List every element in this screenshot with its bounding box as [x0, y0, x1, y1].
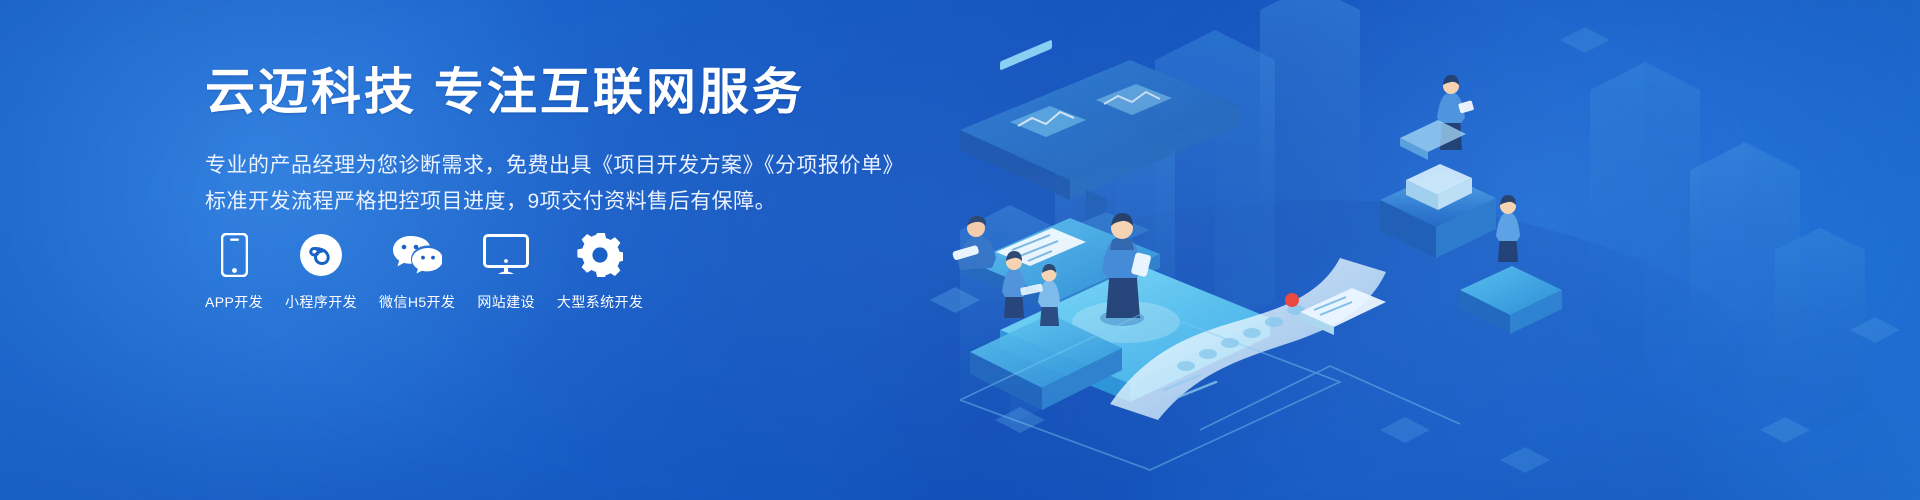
- service-label: APP开发: [205, 292, 263, 312]
- background-glow-right: [1040, 0, 1920, 500]
- subtitle-line-2: 标准开发流程严格把控项目进度，9项交付资料售后有保障。: [205, 184, 925, 220]
- monitor-icon: [483, 232, 529, 278]
- service-label: 小程序开发: [285, 292, 357, 312]
- service-label: 网站建设: [477, 292, 535, 312]
- isometric-illustration: [900, 0, 1920, 500]
- page-title: 云迈科技 专注互联网服务: [205, 62, 925, 122]
- hero-banner: 云迈科技 专注互联网服务 专业的产品经理为您诊断需求，免费出具《项目开发方案》《…: [0, 0, 1920, 500]
- service-label: 微信H5开发: [379, 292, 455, 312]
- service-item-large-system[interactable]: 大型系统开发: [557, 232, 643, 312]
- banner-content: 云迈科技 专注互联网服务 专业的产品经理为您诊断需求，免费出具《项目开发方案》《…: [205, 62, 925, 220]
- gear-icon: [577, 232, 623, 278]
- service-item-wechat-h5[interactable]: 微信H5开发: [379, 232, 455, 312]
- wechat-icon: [392, 232, 442, 278]
- background-glow-bottom: [768, 200, 1868, 500]
- service-item-app[interactable]: APP开发: [205, 232, 263, 312]
- service-label: 大型系统开发: [557, 292, 643, 312]
- banner-subtitle: 专业的产品经理为您诊断需求，免费出具《项目开发方案》《分项报价单》 标准开发流程…: [205, 148, 925, 220]
- subtitle-line-1: 专业的产品经理为您诊断需求，免费出具《项目开发方案》《分项报价单》: [205, 148, 925, 184]
- service-item-mini-program[interactable]: 小程序开发: [285, 232, 357, 312]
- mobile-phone-icon: [221, 232, 248, 278]
- service-item-website[interactable]: 网站建设: [477, 232, 535, 312]
- service-list: APP开发 小程序开发: [205, 232, 643, 312]
- mini-program-icon: [299, 232, 343, 278]
